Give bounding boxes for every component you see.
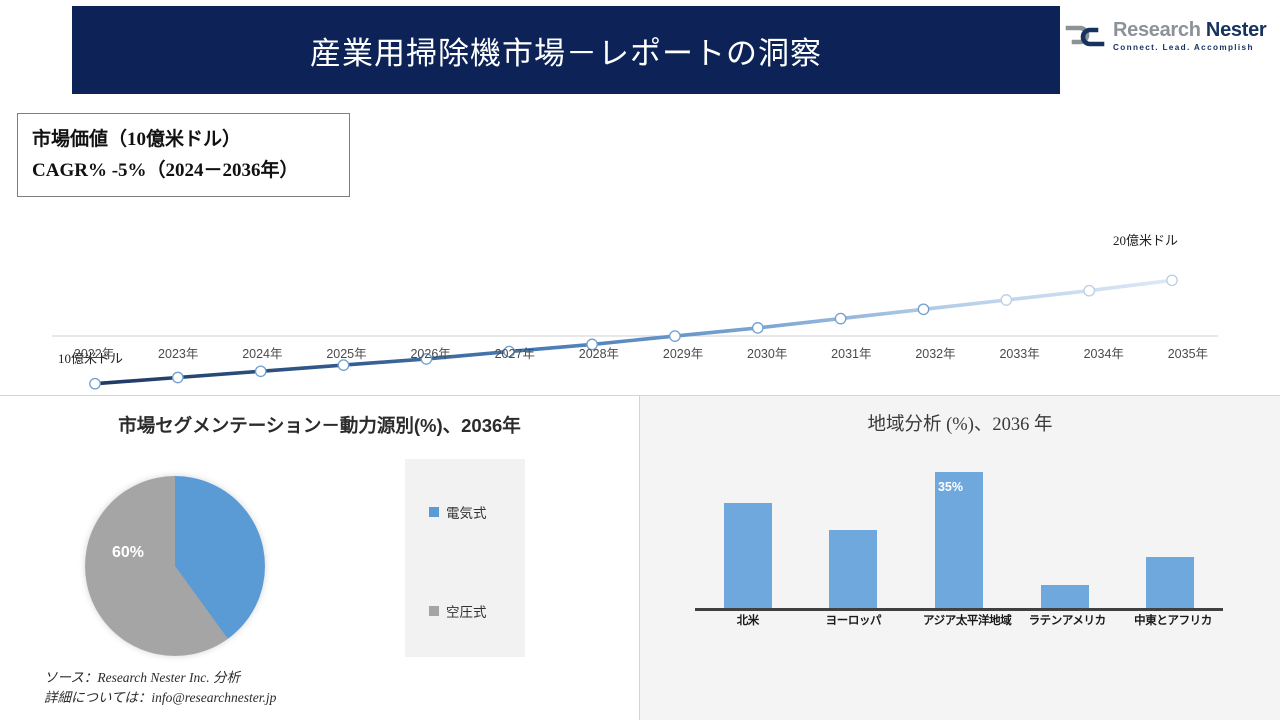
bar-column: [817, 460, 889, 608]
x-axis-tick-label: 2029年: [641, 343, 725, 362]
bar-category-label: 中東とアフリカ: [1134, 612, 1206, 628]
line-data-point: [1167, 275, 1177, 285]
x-axis-tick-label: 2031年: [809, 343, 893, 362]
line-data-point: [173, 372, 183, 382]
legend-swatch-pneumatic-icon: [429, 606, 439, 616]
line-data-point: [753, 323, 763, 333]
bar-column: 35%: [923, 460, 995, 608]
regional-bar-chart: 35%: [695, 460, 1223, 608]
line-data-point: [1084, 286, 1094, 296]
bar: [724, 503, 772, 608]
bar: [829, 530, 877, 608]
regional-analysis-title: 地域分析 (%)、2036 年: [640, 410, 1280, 436]
segmentation-title: 市場セグメンテーション－動力源別(%)、2036年: [0, 412, 639, 438]
source-line-contact: 詳細については：info@researchnester.jp: [44, 688, 276, 708]
x-axis-tick-label: 2028年: [557, 343, 641, 362]
logo-name-research: Research: [1113, 19, 1206, 41]
x-axis-tick-label: 2027年: [473, 343, 557, 362]
x-axis-tick-label: 2026年: [389, 343, 473, 362]
bar-value-label: 35%: [938, 480, 963, 494]
bar-column: [712, 460, 784, 608]
line-chart-end-label: 20億米ドル: [1113, 230, 1178, 249]
regional-analysis-panel: 地域分析 (%)、2036 年 35% 北米ヨーロッパアジア太平洋地域ラテンアメ…: [640, 396, 1280, 720]
bar-category-label: 北米: [712, 612, 784, 628]
x-axis-tick-label: 2030年: [725, 343, 809, 362]
legend-item-pneumatic[interactable]: 空圧式: [429, 601, 487, 621]
bar-category-label: ヨーロッパ: [817, 612, 889, 628]
slide-canvas: 産業用掃除機市場－レポートの洞察 Research Nester Connect…: [0, 0, 1280, 720]
line-data-point: [918, 304, 928, 314]
bar-column: [1134, 460, 1206, 608]
line-data-point: [1001, 295, 1011, 305]
linked-chain-logo-icon: [1064, 21, 1106, 51]
x-axis-tick-label: 2033年: [978, 343, 1062, 362]
segmentation-legend: 電気式 空圧式: [405, 459, 525, 657]
logo-name: Research Nester: [1113, 20, 1266, 40]
x-axis-tick-label: 2032年: [893, 343, 977, 362]
research-nester-logo: Research Nester Connect. Lead. Accomplis…: [1064, 12, 1276, 60]
bar-category-label: アジア太平洋地域: [923, 612, 995, 628]
x-axis-tick-label: 2035年: [1146, 343, 1230, 362]
logo-text: Research Nester Connect. Lead. Accomplis…: [1113, 20, 1266, 52]
line-chart-x-axis-labels: 2022年2023年2024年2025年2026年2027年2028年2029年…: [52, 343, 1230, 362]
segmentation-pie-chart: [85, 476, 265, 656]
line-data-point: [835, 313, 845, 323]
bar: [1041, 585, 1089, 608]
bar: [1146, 557, 1194, 608]
page-title: 産業用掃除機市場－レポートの洞察: [310, 28, 822, 73]
logo-tagline: Connect. Lead. Accomplish: [1113, 44, 1266, 52]
legend-swatch-electric-icon: [429, 507, 439, 517]
header-banner: 産業用掃除機市場－レポートの洞察: [72, 6, 1060, 94]
market-value-line-chart: 10億米ドル 20億米ドル 2022年2023年2024年2025年2026年2…: [0, 100, 1280, 395]
source-line-analysis: ソース：Research Nester Inc. 分析: [44, 668, 276, 688]
regional-bar-baseline: [695, 608, 1223, 611]
legend-label-electric: 電気式: [446, 502, 487, 522]
line-data-point: [670, 331, 680, 341]
x-axis-tick-label: 2024年: [220, 343, 304, 362]
pie-slice-label-pneumatic: 60%: [112, 544, 144, 562]
line-data-point: [90, 379, 100, 389]
bar-column: [1029, 460, 1101, 608]
x-axis-tick-label: 2023年: [136, 343, 220, 362]
line-data-point: [256, 366, 266, 376]
regional-bar-x-axis-labels: 北米ヨーロッパアジア太平洋地域ラテンアメリカ中東とアフリカ: [695, 612, 1223, 628]
bar-category-label: ラテンアメリカ: [1029, 612, 1101, 628]
x-axis-tick-label: 2034年: [1062, 343, 1146, 362]
legend-label-pneumatic: 空圧式: [446, 601, 487, 621]
bar: 35%: [935, 472, 983, 608]
legend-item-electric[interactable]: 電気式: [429, 502, 487, 522]
logo-name-nester: Nester: [1206, 19, 1266, 41]
x-axis-tick-label: 2022年: [52, 343, 136, 362]
x-axis-tick-label: 2025年: [304, 343, 388, 362]
source-note: ソース：Research Nester Inc. 分析 詳細については：info…: [44, 668, 276, 707]
